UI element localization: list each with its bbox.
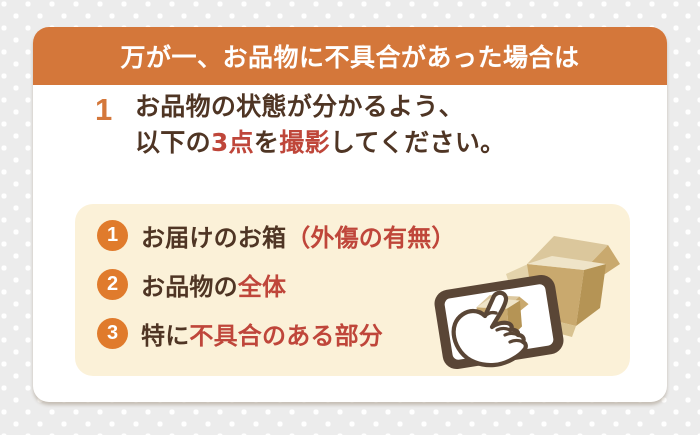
checklist-item-2-plain: お品物の	[141, 273, 238, 301]
bullet-marker-3: 3	[97, 318, 128, 349]
step-line2-accent-count: 3点	[211, 128, 254, 157]
bullet-marker-1: 1	[97, 220, 128, 251]
checklist-item-3: 3 特に不具合のある部分	[97, 315, 383, 351]
checklist-item-3-label: 特に不具合のある部分	[141, 316, 383, 351]
bullet-marker-2: 2	[97, 269, 128, 300]
step-text-line-2: 以下の3点を撮影してください。	[135, 125, 505, 161]
step-line1-text: お品物の状態が分かるよう、	[135, 92, 464, 121]
header-title: 万が一、お品物に不具合があった場合は	[120, 38, 579, 74]
checklist-item-1-label: お届けのお箱（外傷の有無）	[141, 218, 456, 253]
step-line2-suffix: してください。	[330, 128, 506, 157]
pointing-hand-icon	[454, 293, 526, 365]
checklist-item-2-label: お品物の全体	[141, 267, 286, 302]
tablet-icon	[432, 273, 565, 371]
step-line2-middle: を	[254, 128, 279, 157]
checklist-item-2: 2 お品物の全体	[97, 266, 286, 302]
step-line2-prefix: 以下の	[135, 128, 211, 157]
box-on-screen-icon	[467, 289, 533, 344]
step-number: 1	[95, 89, 135, 160]
cardboard-box-icon	[506, 236, 620, 337]
step-text: お品物の状態が分かるよう、 以下の3点を撮影してください。	[135, 89, 505, 160]
checklist-panel: 1 お届けのお箱（外傷の有無） 2 お品物の全体 3 特に不具合のある部分	[75, 204, 630, 376]
checklist-item-1: 1 お届けのお箱（外傷の有無）	[97, 217, 456, 253]
info-card: 万が一、お品物に不具合があった場合は 1 お品物の状態が分かるよう、 以下の3点…	[33, 27, 667, 402]
checklist-item-2-accent: 全体	[238, 273, 286, 301]
checklist-item-3-plain: 特に	[141, 322, 189, 350]
step-text-line-1: お品物の状態が分かるよう、	[135, 89, 505, 125]
step-line2-accent-action: 撮影	[279, 128, 330, 157]
card-header: 万が一、お品物に不具合があった場合は	[33, 27, 667, 85]
step-block: 1 お品物の状態が分かるよう、 以下の3点を撮影してください。	[33, 89, 667, 160]
checklist-item-1-accent: （外傷の有無）	[286, 224, 455, 252]
checklist-item-1-plain: お届けのお箱	[141, 224, 286, 252]
checklist-item-3-accent: 不具合のある部分	[189, 322, 383, 350]
